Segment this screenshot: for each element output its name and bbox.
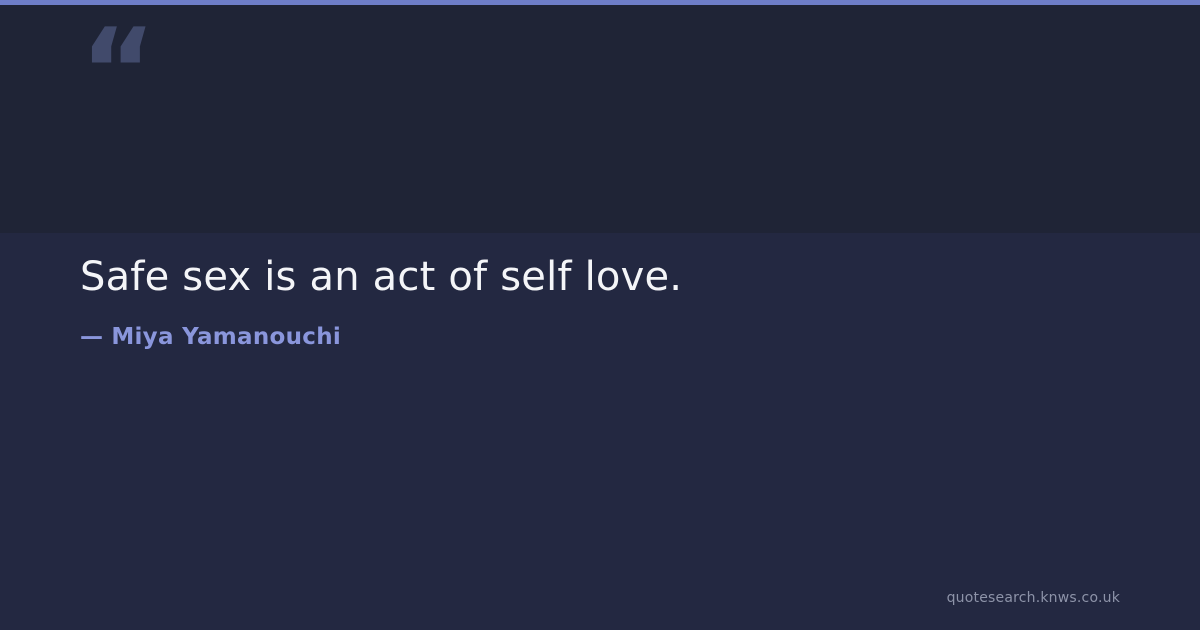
quote-text: Safe sex is an act of self love. <box>80 252 1120 303</box>
quote-attribution: —Miya Yamanouchi <box>80 303 1120 352</box>
site-watermark: quotesearch.knws.co.uk <box>947 590 1120 606</box>
attribution-dash: — <box>80 324 103 350</box>
quote-card: “ Safe sex is an act of self love. —Miya… <box>0 0 1200 630</box>
attribution-author: Miya Yamanouchi <box>111 324 341 350</box>
quote-content: Safe sex is an act of self love. —Miya Y… <box>80 252 1120 352</box>
top-accent-bar <box>0 0 1200 5</box>
quotation-mark-icon: “ <box>80 14 154 130</box>
